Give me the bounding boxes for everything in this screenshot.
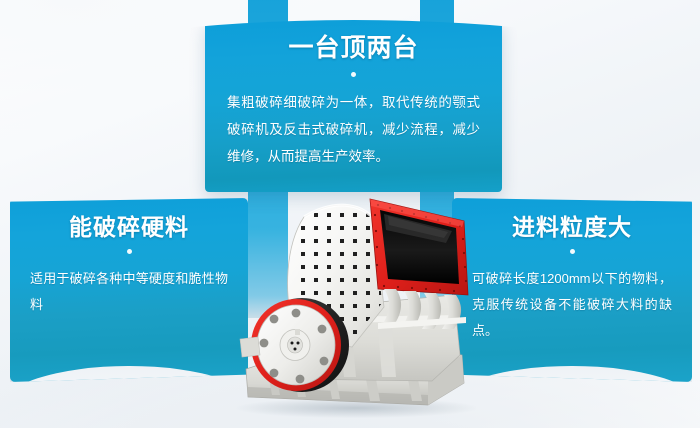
feature-panel-top-content: 一台顶两台 集粗破碎细破碎为一体，取代传统的颚式破碎机及反击式破碎机，减少流程，…: [205, 20, 502, 170]
hammer-crusher-machine-image: [232, 183, 478, 423]
feature-panel-top[interactable]: 一台顶两台 集粗破碎细破碎为一体，取代传统的颚式破碎机及反击式破碎机，减少流程，…: [205, 20, 502, 192]
title-dot-icon: [351, 72, 356, 77]
feature-panel-right-title: 进料粒度大: [472, 214, 672, 240]
machine-left-bracket: [240, 337, 260, 357]
title-dot-icon: [127, 249, 132, 254]
feature-panel-left[interactable]: 能破碎硬料 适用于破碎各种中等硬度和脆性物料: [10, 198, 248, 382]
machine-feed-hopper: [370, 199, 468, 295]
title-dot-icon: [570, 249, 575, 254]
feature-panel-right-body: 可破碎长度1200mm以下的物料，克服传统设备不能破碎大料的缺点。: [472, 266, 672, 344]
feature-panel-top-title: 一台顶两台: [227, 34, 480, 63]
machine-flywheel: [251, 298, 349, 392]
feature-panel-left-title: 能破碎硬料: [30, 214, 228, 240]
feature-panel-left-body: 适用于破碎各种中等硬度和脆性物料: [30, 266, 228, 318]
feature-panel-left-content: 能破碎硬料 适用于破碎各种中等硬度和脆性物料: [10, 198, 248, 318]
feature-panel-top-body: 集粗破碎细破碎为一体，取代传统的颚式破碎机及反击式破碎机，减少流程，减少维修，从…: [227, 89, 480, 170]
panel-bottom-curve: [0, 366, 257, 408]
feature-panel-right[interactable]: 进料粒度大 可破碎长度1200mm以下的物料，克服传统设备不能破碎大料的缺点。: [452, 198, 692, 382]
feature-panel-right-content: 进料粒度大 可破碎长度1200mm以下的物料，克服传统设备不能破碎大料的缺点。: [452, 198, 692, 344]
panel-bottom-curve: [442, 366, 700, 408]
infographic-stage: 一台顶两台 集粗破碎细破碎为一体，取代传统的颚式破碎机及反击式破碎机，减少流程，…: [0, 0, 700, 428]
